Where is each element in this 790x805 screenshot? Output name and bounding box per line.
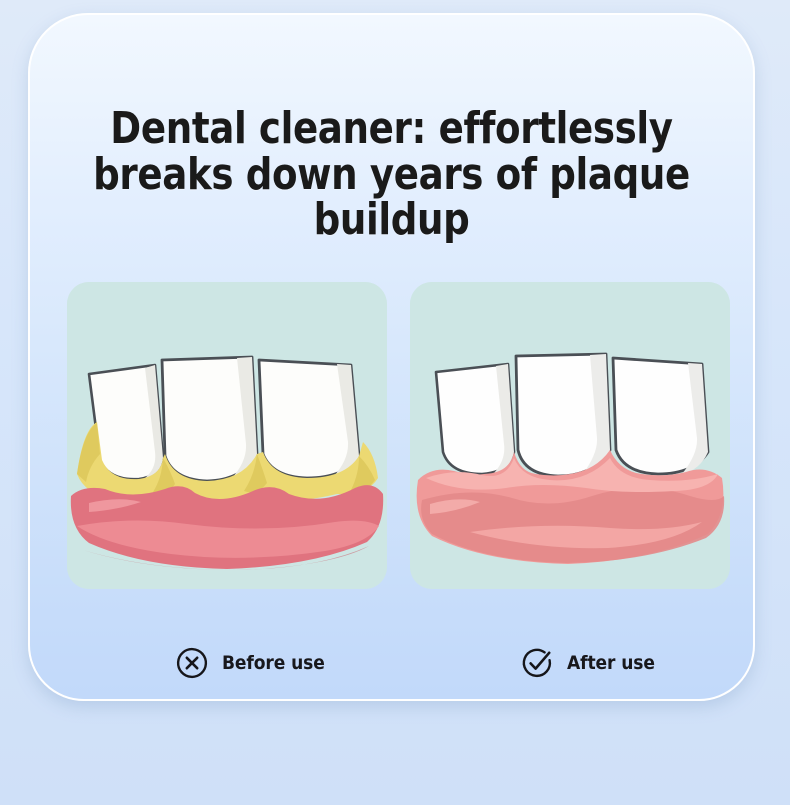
page-background: Dental cleaner: effortlessly breaks down…	[0, 0, 790, 805]
after-illustration-panel	[410, 282, 730, 589]
before-teeth-illustration	[67, 282, 387, 589]
caption-before-use-label: Before use	[222, 652, 325, 674]
after-teeth-illustration	[410, 282, 730, 589]
caption-before-use: Before use	[175, 640, 325, 686]
circle-x-icon	[175, 646, 209, 680]
caption-after-use-label: After use	[567, 652, 655, 674]
caption-row: Before use After use	[67, 640, 730, 686]
page-title: Dental cleaner: effortlessly breaks down…	[52, 106, 732, 242]
circle-check-icon	[520, 646, 554, 680]
promo-card: Dental cleaner: effortlessly breaks down…	[28, 13, 755, 701]
caption-after-use: After use	[520, 640, 655, 686]
comparison-panels	[67, 282, 730, 589]
before-illustration-panel	[67, 282, 387, 589]
